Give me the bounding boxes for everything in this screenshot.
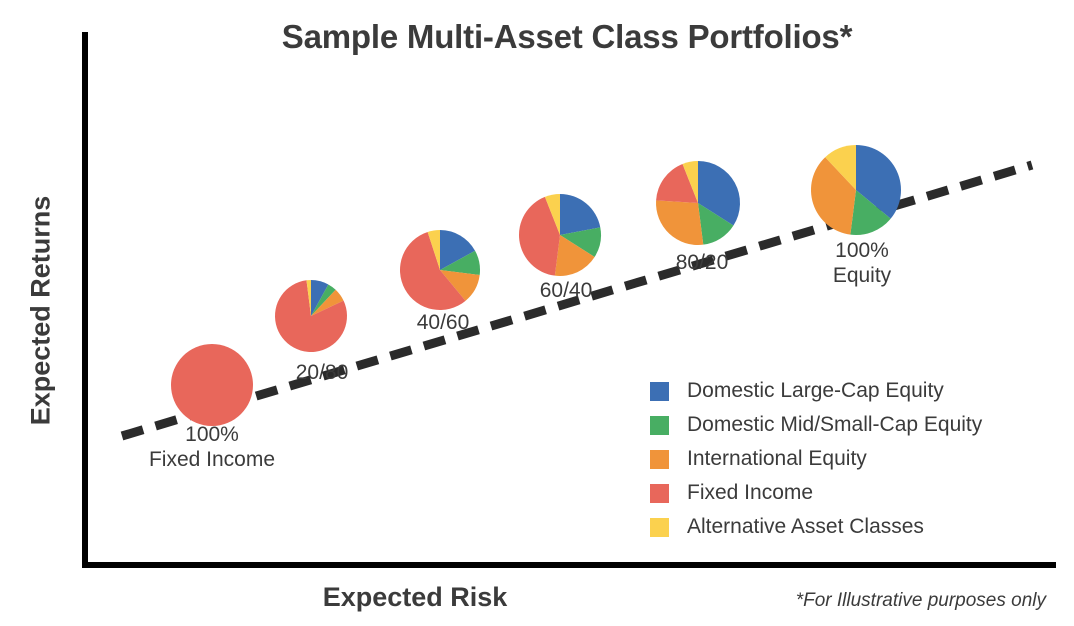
legend-item: Domestic Large-Cap Equity — [650, 374, 982, 408]
x-axis-label: Expected Risk — [200, 582, 630, 613]
legend-swatch-icon — [650, 484, 669, 503]
legend-swatch-icon — [650, 450, 669, 469]
pie-slice — [171, 344, 253, 426]
legend-item-label: Fixed Income — [687, 481, 813, 505]
chart-container: Sample Multi-Asset Class Portfolios* Exp… — [0, 0, 1074, 626]
footnote: *For Illustrative purposes only — [796, 590, 1046, 612]
legend-swatch-icon — [650, 416, 669, 435]
legend-item: Fixed Income — [650, 476, 982, 510]
legend: Domestic Large-Cap EquityDomestic Mid/Sm… — [650, 374, 982, 544]
y-axis-label: Expected Returns — [26, 186, 57, 436]
legend-item-label: Alternative Asset Classes — [687, 515, 924, 539]
pie-slice — [656, 200, 703, 245]
data-point-label: 100% Fixed Income — [62, 422, 362, 472]
legend-item: Domestic Mid/Small-Cap Equity — [650, 408, 982, 442]
legend-item: Alternative Asset Classes — [650, 510, 982, 544]
legend-swatch-icon — [650, 518, 669, 537]
pie-marker — [656, 161, 740, 245]
pie-marker — [811, 145, 901, 235]
data-point-label: 60/40 — [416, 278, 716, 303]
legend-item-label: International Equity — [687, 447, 867, 471]
legend-swatch-icon — [650, 382, 669, 401]
data-point-label: 20/80 — [172, 360, 472, 385]
legend-item-label: Domestic Mid/Small-Cap Equity — [687, 413, 982, 437]
legend-item-label: Domestic Large-Cap Equity — [687, 379, 944, 403]
legend-item: International Equity — [650, 442, 982, 476]
data-point-label: 100% Equity — [712, 238, 1012, 288]
data-point-label: 40/60 — [293, 310, 593, 335]
page-title: Sample Multi-Asset Class Portfolios* — [0, 18, 1074, 56]
pie-marker — [171, 344, 253, 426]
